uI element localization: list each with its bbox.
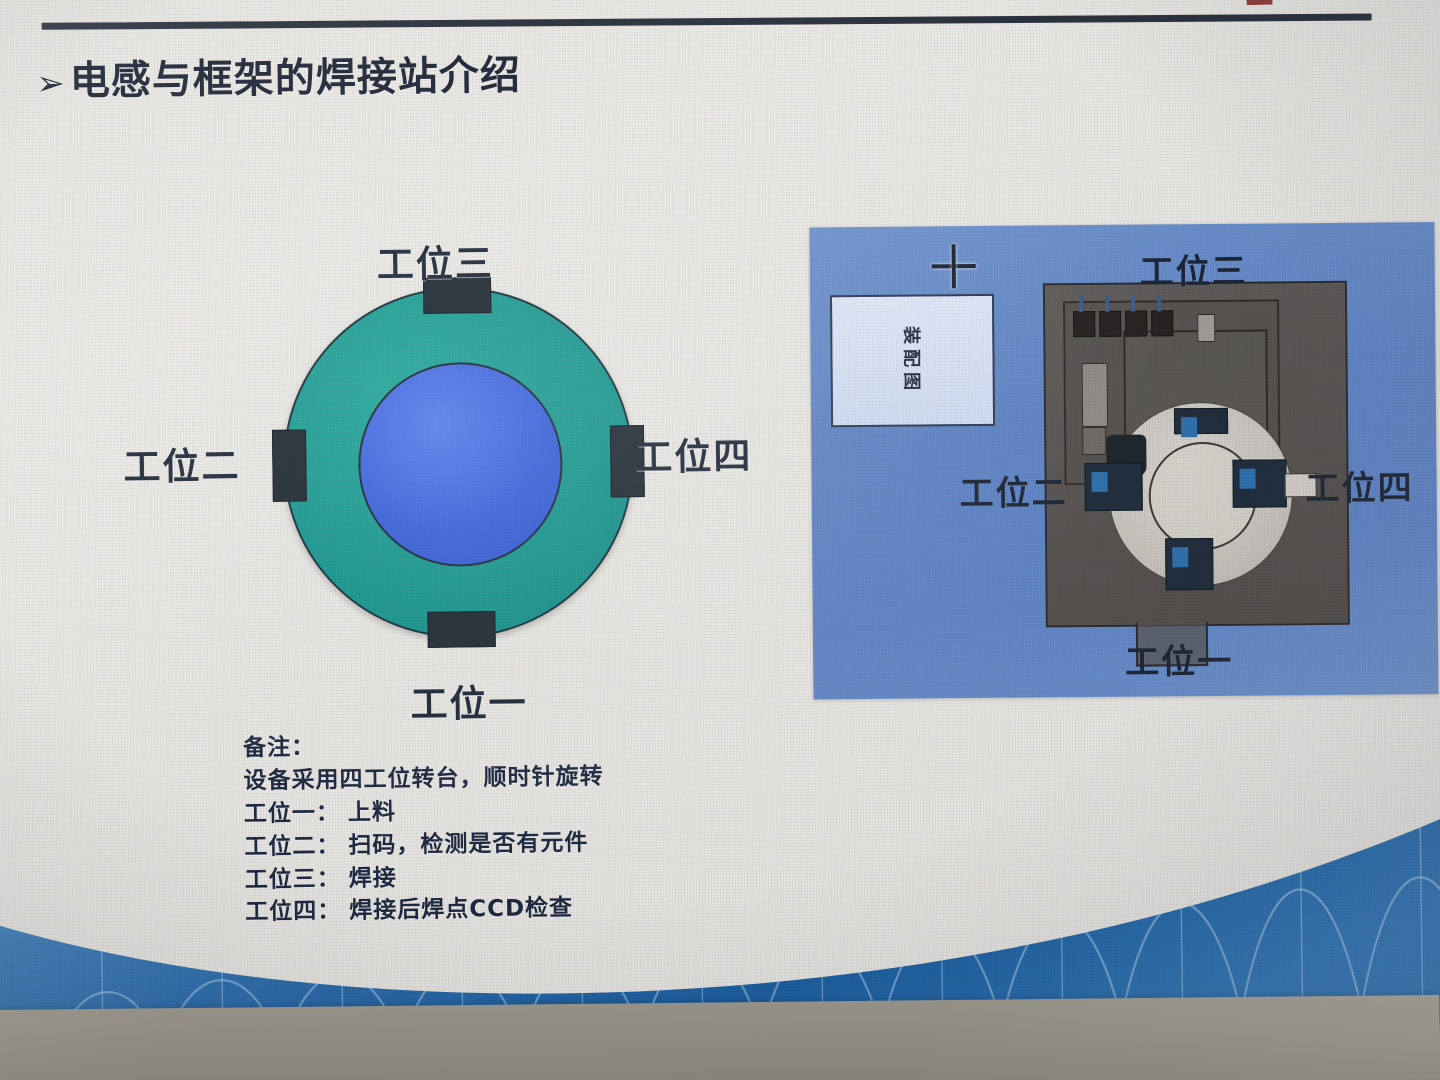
notes-heading: 备注：	[243, 728, 603, 766]
monitor-bottom-bezel	[0, 995, 1440, 1080]
crosshair-icon	[932, 244, 976, 288]
schematic-label-station-one: 工位一	[410, 673, 528, 729]
cad-feeder-2	[1099, 311, 1121, 337]
drawing-title-text: 装配图	[899, 326, 926, 395]
bullet-arrow-icon: ➢	[36, 64, 66, 104]
cad-sensor-block	[1197, 314, 1215, 342]
logo-mark-icon	[1246, 0, 1273, 5]
slide-surface: NVEN ➢电感与框架的焊接站介绍 工位三 工位二 工位四 工位一	[0, 0, 1440, 1044]
inventec-logo: NVEN	[1246, 0, 1440, 13]
station-marker-one	[427, 611, 495, 648]
cad-feeder-4	[1151, 310, 1173, 336]
page-title-text: 电感与框架的焊接站介绍	[70, 53, 522, 105]
drawing-title-box: 装配图	[830, 294, 995, 427]
turntable-graphic	[281, 285, 636, 640]
panel-label-station-three: 工位三	[1140, 244, 1248, 294]
cad-feeder-1	[1073, 311, 1095, 337]
schematic-label-station-three: 工位三	[376, 233, 494, 289]
cad-feeder-3	[1125, 311, 1147, 337]
title-rule	[42, 14, 1372, 30]
cad-fixture-four	[1232, 459, 1286, 507]
cad-fixture-one	[1165, 538, 1213, 590]
cad-fixture-two	[1084, 463, 1142, 512]
machine-cad-topview	[1043, 281, 1350, 628]
turntable-ring	[281, 285, 636, 640]
photo-of-projected-slide: NVEN ➢电感与框架的焊接站介绍 工位三 工位二 工位四 工位一	[0, 0, 1440, 1080]
panel-label-station-four: 工位四	[1305, 460, 1413, 510]
schematic-label-station-four: 工位四	[635, 426, 753, 482]
logo-text: NVEN	[1274, 0, 1440, 12]
cad-column-part-secondary	[1082, 427, 1106, 455]
notes-summary: 设备采用四工位转台，顺时针旋转	[243, 760, 603, 798]
turntable-hub	[357, 361, 564, 568]
panel-label-station-two: 工位二	[959, 465, 1067, 515]
station-marker-two	[272, 430, 307, 502]
cad-column-part	[1082, 363, 1109, 427]
machine-layout-panel: 装配图	[809, 222, 1438, 699]
cad-fixture-three	[1174, 408, 1228, 434]
rotary-table-schematic: 工位三 工位二 工位四 工位一	[112, 221, 809, 740]
panel-label-station-one: 工位一	[1125, 634, 1233, 684]
page-title: ➢电感与框架的焊接站介绍	[36, 37, 937, 107]
schematic-label-station-two: 工位二	[123, 435, 241, 491]
